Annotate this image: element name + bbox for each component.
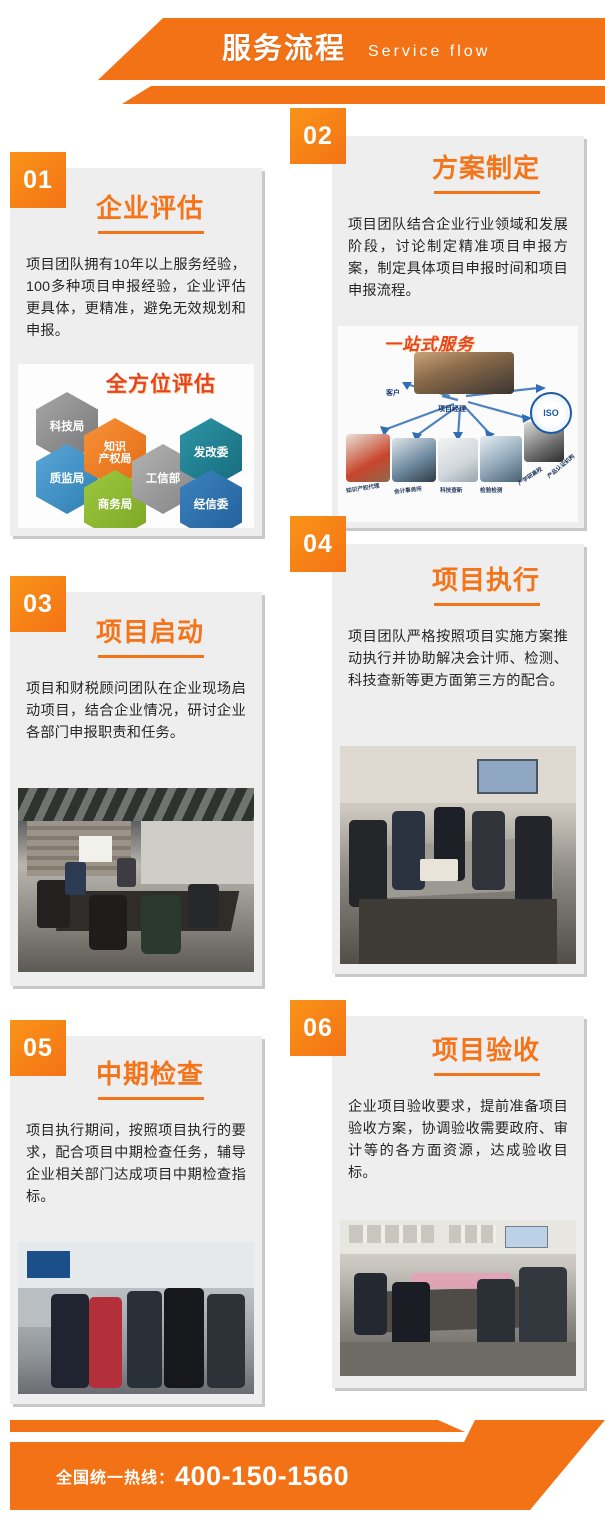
process-card-02[interactable]: 方案制定 项目团队结合企业行业领域和发展阶段，讨论制定精准项目申报方案，制定具体… <box>332 136 584 528</box>
card-badge-04: 04 <box>290 516 346 572</box>
node-photo-ip-agency <box>346 434 390 482</box>
node-photo-accounting <box>392 438 436 482</box>
one-stop-service-figure: 一站式服务 客户 项目经理 <box>338 326 578 522</box>
page-header: 服务流程 Service flow <box>0 0 605 118</box>
meeting-thumbnail <box>414 352 514 394</box>
node-photo-inspection <box>480 436 522 482</box>
process-card-01[interactable]: 企业评估 项目团队拥有10年以上服务经验，100多种项目申报经验，企业评估更具体… <box>10 168 262 536</box>
hotline-number[interactable]: 400-150-1560 <box>175 1461 349 1491</box>
card-photo-04 <box>340 746 576 964</box>
hexagon-figure-title: 全方位评估 <box>106 368 216 398</box>
card-title-03: 项目启动 <box>96 612 204 649</box>
card-title-02: 方案制定 <box>432 148 540 185</box>
card-badge-03: 03 <box>10 576 66 632</box>
card-badge-01: 01 <box>10 152 66 208</box>
card-body-03: 项目和财税顾问团队在企业现场启动项目，结合企业情况，研讨企业各部门申报职责和任务… <box>26 678 246 744</box>
label-customer: 客户 <box>386 388 400 398</box>
card-photo-03 <box>18 788 254 972</box>
hexagon-assessment-figure: 全方位评估 科技局 质监局 知识 产权局 商务局 工信部 发改委 经信委 <box>18 364 254 528</box>
card-photo-05 <box>18 1242 254 1394</box>
process-card-03[interactable]: 项目启动 项目和财税顾问团队在企业现场启动项目，结合企业情况，研讨企业各部门申报… <box>10 592 262 986</box>
card-body-04: 项目团队严格按照项目实施方案推动执行并协助解决会计师、检测、科技查新等更方面第三… <box>348 626 568 692</box>
page-footer: 全国统一热线：400-150-1560 <box>0 1420 605 1538</box>
card-badge-05: 05 <box>10 1020 66 1076</box>
process-card-06[interactable]: 项目验收 企业项目验收要求，提前准备项目验收方案，协调验收需要政府、审计等的各方… <box>332 1016 584 1388</box>
node-photo-tech-search <box>438 438 478 482</box>
node-label-inspection: 检验检测 <box>480 486 502 494</box>
label-project-manager: 项目经理 <box>438 404 466 414</box>
card-title-04: 项目执行 <box>432 560 540 597</box>
card-title-01: 企业评估 <box>96 188 204 225</box>
hotline-block: 全国统一热线：400-150-1560 <box>56 1460 349 1495</box>
card-badge-06: 06 <box>290 1000 346 1056</box>
certification-seal-icon: ISO <box>530 392 572 434</box>
process-card-05[interactable]: 中期检查 项目执行期间，按照项目执行的要求，配合项目中期检查任务，辅导企业相关部… <box>10 1036 262 1404</box>
card-body-02: 项目团队结合企业行业领域和发展阶段，讨论制定精准项目申报方案，制定具体项目申报时… <box>348 214 568 302</box>
hotline-label: 全国统一热线： <box>56 1470 175 1487</box>
card-body-01: 项目团队拥有10年以上服务经验，100多种项目申报经验，企业评估更具体，更精准，… <box>26 254 246 342</box>
card-body-06: 企业项目验收要求，提前准备项目验收方案，协调验收需要政府、审计等的各方面资源，达… <box>348 1096 568 1184</box>
card-photo-06 <box>340 1220 576 1376</box>
card-body-05: 项目执行期间，按照项目执行的要求，配合项目中期检查任务，辅导企业相关部门达成项目… <box>26 1120 246 1208</box>
process-card-04[interactable]: 项目执行 项目团队严格按照项目实施方案推动执行并协助解决会计师、检测、科技查新等… <box>332 544 584 974</box>
page-title: 服务流程 <box>222 28 346 70</box>
node-label-tech-search: 科技查新 <box>440 486 462 494</box>
card-badge-02: 02 <box>290 108 346 164</box>
header-orange-stripe <box>0 86 605 104</box>
card-title-06: 项目验收 <box>432 1030 540 1067</box>
card-title-05: 中期检查 <box>96 1054 204 1091</box>
page-subtitle: Service flow <box>368 40 490 64</box>
